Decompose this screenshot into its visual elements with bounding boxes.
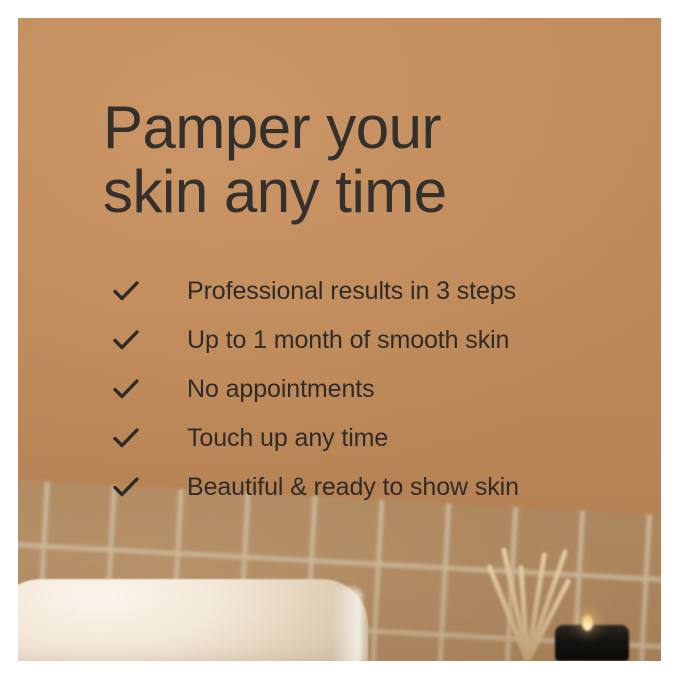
check-icon [113,378,159,400]
list-item-label: No appointments [159,375,375,403]
list-item: Up to 1 month of smooth skin [113,315,633,364]
list-item: Beautiful & ready to show skin [113,462,633,511]
banner-photo: Pamper your skin any time Professional r… [18,18,661,661]
check-icon [113,280,159,302]
product-banner: Pamper your skin any time Professional r… [0,0,679,679]
candle-flame-icon [582,614,593,631]
list-item-label: Up to 1 month of smooth skin [159,326,509,354]
check-icon [113,427,159,449]
list-item: Touch up any time [113,413,633,462]
page-title: Pamper your skin any time [103,96,603,224]
towel-texture [18,579,368,661]
list-item: No appointments [113,364,633,413]
check-icon [113,476,159,498]
list-item-label: Touch up any time [159,424,388,452]
candle [555,625,629,661]
towel-folded-end [332,587,362,661]
list-item: Professional results in 3 steps [113,266,633,315]
check-icon [113,329,159,351]
benefits-list: Professional results in 3 steps Up to 1 … [113,266,633,511]
rolled-towel [18,579,368,661]
list-item-label: Professional results in 3 steps [159,277,516,305]
list-item-label: Beautiful & ready to show skin [159,473,519,501]
